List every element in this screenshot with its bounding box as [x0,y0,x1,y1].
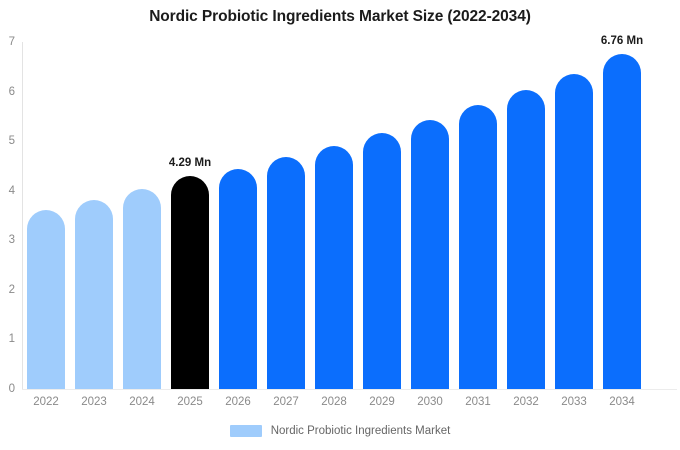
x-axis-tick-label-2028: 2028 [310,396,358,408]
chart-legend: Nordic Probiotic Ingredients Market [0,425,680,437]
x-axis-tick-label-2022: 2022 [22,396,70,408]
y-axis-tick-label: 7 [9,36,15,48]
chart-title: Nordic Probiotic Ingredients Market Size… [0,8,680,26]
bar-chart: Nordic Probiotic Ingredients Market Size… [0,0,680,450]
y-axis-tick-label: 4 [9,185,15,197]
plot-area: 012345674.29 Mn6.76 Mn [22,42,677,389]
bar-value-label-2025: 4.29 Mn [169,157,211,169]
bar-2034[interactable]: 6.76 Mn [603,54,641,389]
x-axis-tick-label-2030: 2030 [406,396,454,408]
x-axis-tick-label-2025: 2025 [166,396,214,408]
bar-2033[interactable] [555,74,593,389]
bar-2026[interactable] [219,169,257,389]
bar-2022[interactable] [27,210,65,389]
bar-2023[interactable] [75,200,113,389]
x-axis-tick-label-2029: 2029 [358,396,406,408]
y-axis-tick-label: 3 [9,234,15,246]
legend-label: Nordic Probiotic Ingredients Market [271,425,451,437]
y-axis-tick-label: 2 [9,284,15,296]
x-axis-tick-label-2032: 2032 [502,396,550,408]
y-axis-tick-label: 6 [9,86,15,98]
x-axis-tick-label-2034: 2034 [598,396,646,408]
bar-2029[interactable] [363,133,401,389]
bar-2025[interactable]: 4.29 Mn [171,176,209,389]
legend-swatch-icon [230,425,262,437]
bar-2032[interactable] [507,90,545,389]
x-axis-tick-label-2031: 2031 [454,396,502,408]
bar-2028[interactable] [315,146,353,389]
x-axis-tick-label-2027: 2027 [262,396,310,408]
x-axis-tick-label-2026: 2026 [214,396,262,408]
bar-2027[interactable] [267,157,305,389]
bar-value-label-2034: 6.76 Mn [601,35,643,47]
bar-2030[interactable] [411,120,449,389]
x-axis-tick-label-2023: 2023 [70,396,118,408]
x-axis-baseline [22,389,677,390]
x-axis-tick-label-2024: 2024 [118,396,166,408]
y-axis-tick-label: 0 [9,383,15,395]
bar-2031[interactable] [459,105,497,389]
y-axis-tick-label: 1 [9,333,15,345]
x-axis-tick-label-2033: 2033 [550,396,598,408]
bar-2024[interactable] [123,189,161,389]
y-axis-tick-label: 5 [9,135,15,147]
